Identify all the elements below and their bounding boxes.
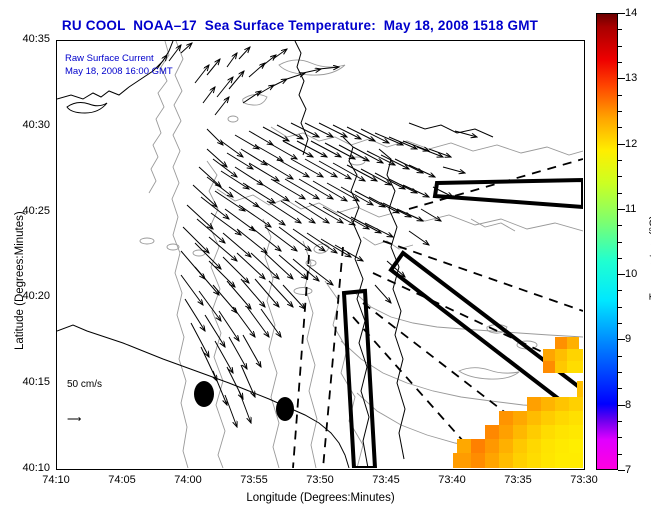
- colorbar-tick-label: 9: [625, 333, 631, 345]
- colorbar-tick: [618, 160, 622, 161]
- colorbar-tick: [618, 323, 622, 324]
- x-tick-label: 73:40: [424, 474, 480, 486]
- colorbar-tick: [618, 13, 625, 14]
- colorbar-tick: [618, 421, 622, 422]
- colorbar-tick: [618, 307, 622, 308]
- colorbar-tick-label: 14: [625, 7, 637, 19]
- x-tick-label: 73:30: [556, 474, 612, 486]
- colorbar-tick: [618, 78, 625, 79]
- current-annotation: Raw Surface Current May 18, 2008 16:00 G…: [65, 52, 173, 78]
- colorbar-tick-label: 13: [625, 72, 637, 84]
- current-vector-field: [157, 43, 477, 427]
- coastline: [57, 41, 493, 468]
- y-tick-label: 40:10: [2, 462, 50, 474]
- colorbar-tick: [618, 176, 622, 177]
- colorbar-tick: [618, 225, 622, 226]
- station-markers[interactable]: [194, 381, 294, 421]
- colorbar-tick: [618, 62, 622, 63]
- map-plot-area: Raw Surface Current May 18, 2008 16:00 G…: [56, 40, 585, 470]
- colorbar-tick: [618, 437, 622, 438]
- colorbar-gradient: [597, 14, 617, 469]
- transect-box-vertical: [344, 291, 375, 468]
- x-tick-label: 73:55: [226, 474, 282, 486]
- y-tick-label: 40:20: [2, 290, 50, 302]
- velocity-scale-legend: 50 cm/s ⟶: [67, 357, 102, 447]
- colorbar-tick: [618, 339, 625, 340]
- colorbar-tick: [618, 144, 625, 145]
- colorbar-tick: [618, 242, 622, 243]
- colorbar: [596, 13, 618, 470]
- colorbar-tick: [618, 356, 622, 357]
- y-tick-label: 40:15: [2, 376, 50, 388]
- transect-box-north: [435, 180, 583, 207]
- scale-legend-label: 50 cm/s: [67, 379, 102, 390]
- colorbar-tick: [618, 95, 622, 96]
- colorbar-tick-label: 11: [625, 203, 636, 215]
- x-tick-label: 73:50: [292, 474, 348, 486]
- sst-map-figure: RU COOL NOAA–17 Sea Surface Temperature:…: [0, 0, 651, 519]
- colorbar-tick: [618, 111, 622, 112]
- colorbar-tick: [618, 388, 622, 389]
- colorbar-tick: [618, 258, 622, 259]
- colorbar-tick-label: 8: [625, 399, 631, 411]
- transect-box-middle: [391, 253, 583, 413]
- colorbar-tick: [618, 470, 625, 471]
- colorbar-tick: [618, 127, 622, 128]
- colorbar-tick: [618, 372, 622, 373]
- colorbar-tick: [618, 193, 622, 194]
- colorbar-tick-label: 7: [625, 464, 631, 476]
- colorbar-tick: [618, 29, 622, 30]
- x-tick-label: 74:05: [94, 474, 150, 486]
- x-tick-label: 74:00: [160, 474, 216, 486]
- colorbar-tick-label: 10: [625, 268, 637, 280]
- x-tick-label: 73:35: [490, 474, 546, 486]
- annotation-line-2: May 18, 2008 16:00 GMT: [65, 66, 173, 77]
- y-tick-label: 40:35: [2, 33, 50, 45]
- colorbar-tick-label: 12: [625, 138, 637, 150]
- sst-pixel-data: [453, 337, 583, 468]
- colorbar-tick: [618, 46, 622, 47]
- colorbar-tick: [618, 274, 625, 275]
- scale-legend-arrow: ⟶: [67, 414, 102, 425]
- x-tick-label: 74:10: [28, 474, 84, 486]
- station-marker-2: [276, 397, 294, 421]
- station-marker-1: [194, 381, 214, 407]
- y-tick-label: 40:25: [2, 205, 50, 217]
- x-tick-label: 73:45: [358, 474, 414, 486]
- colorbar-tick: [618, 209, 625, 210]
- map-graphics: [57, 41, 583, 468]
- y-axis-title: Latitude (Degrees:Minutes): [14, 211, 26, 350]
- y-tick-label: 40:30: [2, 119, 50, 131]
- annotation-line-1: Raw Surface Current: [65, 53, 154, 64]
- x-axis-title: Longitude (Degrees:Minutes): [56, 492, 585, 504]
- colorbar-tick: [618, 405, 625, 406]
- figure-title: RU COOL NOAA–17 Sea Surface Temperature:…: [0, 18, 600, 33]
- colorbar-tick: [618, 454, 622, 455]
- colorbar-tick: [618, 290, 622, 291]
